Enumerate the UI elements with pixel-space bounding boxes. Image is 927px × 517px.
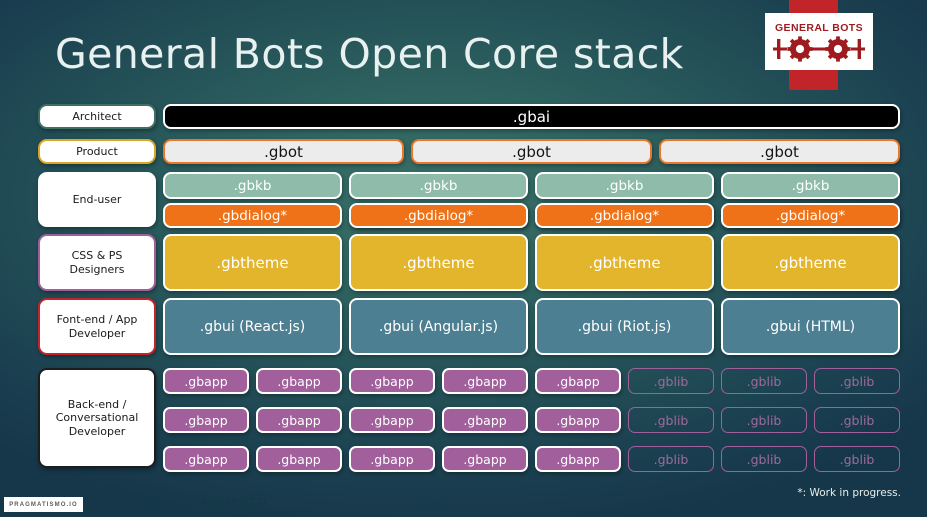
layer-gbdialog-cell-2[interactable]: .gbdialog*: [349, 203, 528, 228]
layer-gbtheme-cell-1[interactable]: .gbtheme: [163, 234, 342, 291]
layer-gbot-cell-1[interactable]: .gbot: [163, 139, 404, 164]
gbapp-cell-r3c1[interactable]: .gbapp: [163, 446, 249, 472]
gbapp-cell-r3c4[interactable]: .gbapp: [442, 446, 528, 472]
footer-caption: 2018Q4 - Corporate: [88, 492, 267, 513]
gbapp-cell-r3c2[interactable]: .gbapp: [256, 446, 342, 472]
row-label-backend: Back-end /ConversationalDeveloper: [38, 368, 156, 468]
layer-gbui-cell-3[interactable]: .gbui (Riot.js): [535, 298, 714, 355]
gbapp-cell-r1c2[interactable]: .gbapp: [256, 368, 342, 394]
pragmatismo-logo: PRAGMATISMO.IO: [4, 497, 83, 512]
row-label-architect: Architect: [38, 104, 156, 129]
slide-canvas: GENERAL BOTS: [0, 0, 927, 517]
row-label-product: Product: [38, 139, 156, 164]
layer-gbtheme-cell-2[interactable]: .gbtheme: [349, 234, 528, 291]
layer-gbui-cell-4[interactable]: .gbui (HTML): [721, 298, 900, 355]
pragmatismo-logo-text: PRAGMATISMO.IO: [9, 502, 78, 508]
layer-gbot-cell-2[interactable]: .gbot: [411, 139, 652, 164]
layer-gbot-cell-3[interactable]: .gbot: [659, 139, 900, 164]
gblib-cell-r1c6[interactable]: .gblib: [628, 368, 714, 394]
row-label-designers: CSS & PSDesigners: [38, 234, 156, 291]
row-label-end-user: End-user: [38, 172, 156, 227]
stack-diagram: ArchitectProductEnd-userCSS & PSDesigner…: [0, 0, 927, 517]
layer-gbkb-cell-4[interactable]: .gbkb: [721, 172, 900, 199]
gbapp-cell-r3c3[interactable]: .gbapp: [349, 446, 435, 472]
gbapp-cell-r2c5[interactable]: .gbapp: [535, 407, 621, 433]
layer-gbdialog-cell-4[interactable]: .gbdialog*: [721, 203, 900, 228]
row-label-frontend: Font-end / AppDeveloper: [38, 298, 156, 355]
gblib-cell-r3c6[interactable]: .gblib: [628, 446, 714, 472]
footnote-work-in-progress: *: Work in progress.: [797, 487, 901, 499]
layer-gbdialog-cell-3[interactable]: .gbdialog*: [535, 203, 714, 228]
layer-gbkb-cell-3[interactable]: .gbkb: [535, 172, 714, 199]
layer-gbtheme-cell-4[interactable]: .gbtheme: [721, 234, 900, 291]
layer-gbui-cell-1[interactable]: .gbui (React.js): [163, 298, 342, 355]
gbapp-cell-r1c1[interactable]: .gbapp: [163, 368, 249, 394]
layer-gbkb-cell-1[interactable]: .gbkb: [163, 172, 342, 199]
gblib-cell-r2c7[interactable]: .gblib: [721, 407, 807, 433]
gblib-cell-r3c7[interactable]: .gblib: [721, 446, 807, 472]
layer-gbkb-cell-2[interactable]: .gbkb: [349, 172, 528, 199]
gblib-cell-r1c7[interactable]: .gblib: [721, 368, 807, 394]
gbapp-cell-r2c4[interactable]: .gbapp: [442, 407, 528, 433]
layer-gbdialog-cell-1[interactable]: .gbdialog*: [163, 203, 342, 228]
layer-gbai-cell-1[interactable]: .gbai: [163, 104, 900, 129]
gbapp-cell-r2c1[interactable]: .gbapp: [163, 407, 249, 433]
gbapp-cell-r1c5[interactable]: .gbapp: [535, 368, 621, 394]
gbapp-cell-r3c5[interactable]: .gbapp: [535, 446, 621, 472]
gblib-cell-r3c8[interactable]: .gblib: [814, 446, 900, 472]
gbapp-cell-r2c2[interactable]: .gbapp: [256, 407, 342, 433]
gbapp-cell-r2c3[interactable]: .gbapp: [349, 407, 435, 433]
layer-gbtheme-cell-3[interactable]: .gbtheme: [535, 234, 714, 291]
gblib-cell-r1c8[interactable]: .gblib: [814, 368, 900, 394]
gblib-cell-r2c6[interactable]: .gblib: [628, 407, 714, 433]
layer-gbui-cell-2[interactable]: .gbui (Angular.js): [349, 298, 528, 355]
gblib-cell-r2c8[interactable]: .gblib: [814, 407, 900, 433]
gbapp-cell-r1c4[interactable]: .gbapp: [442, 368, 528, 394]
gbapp-cell-r1c3[interactable]: .gbapp: [349, 368, 435, 394]
